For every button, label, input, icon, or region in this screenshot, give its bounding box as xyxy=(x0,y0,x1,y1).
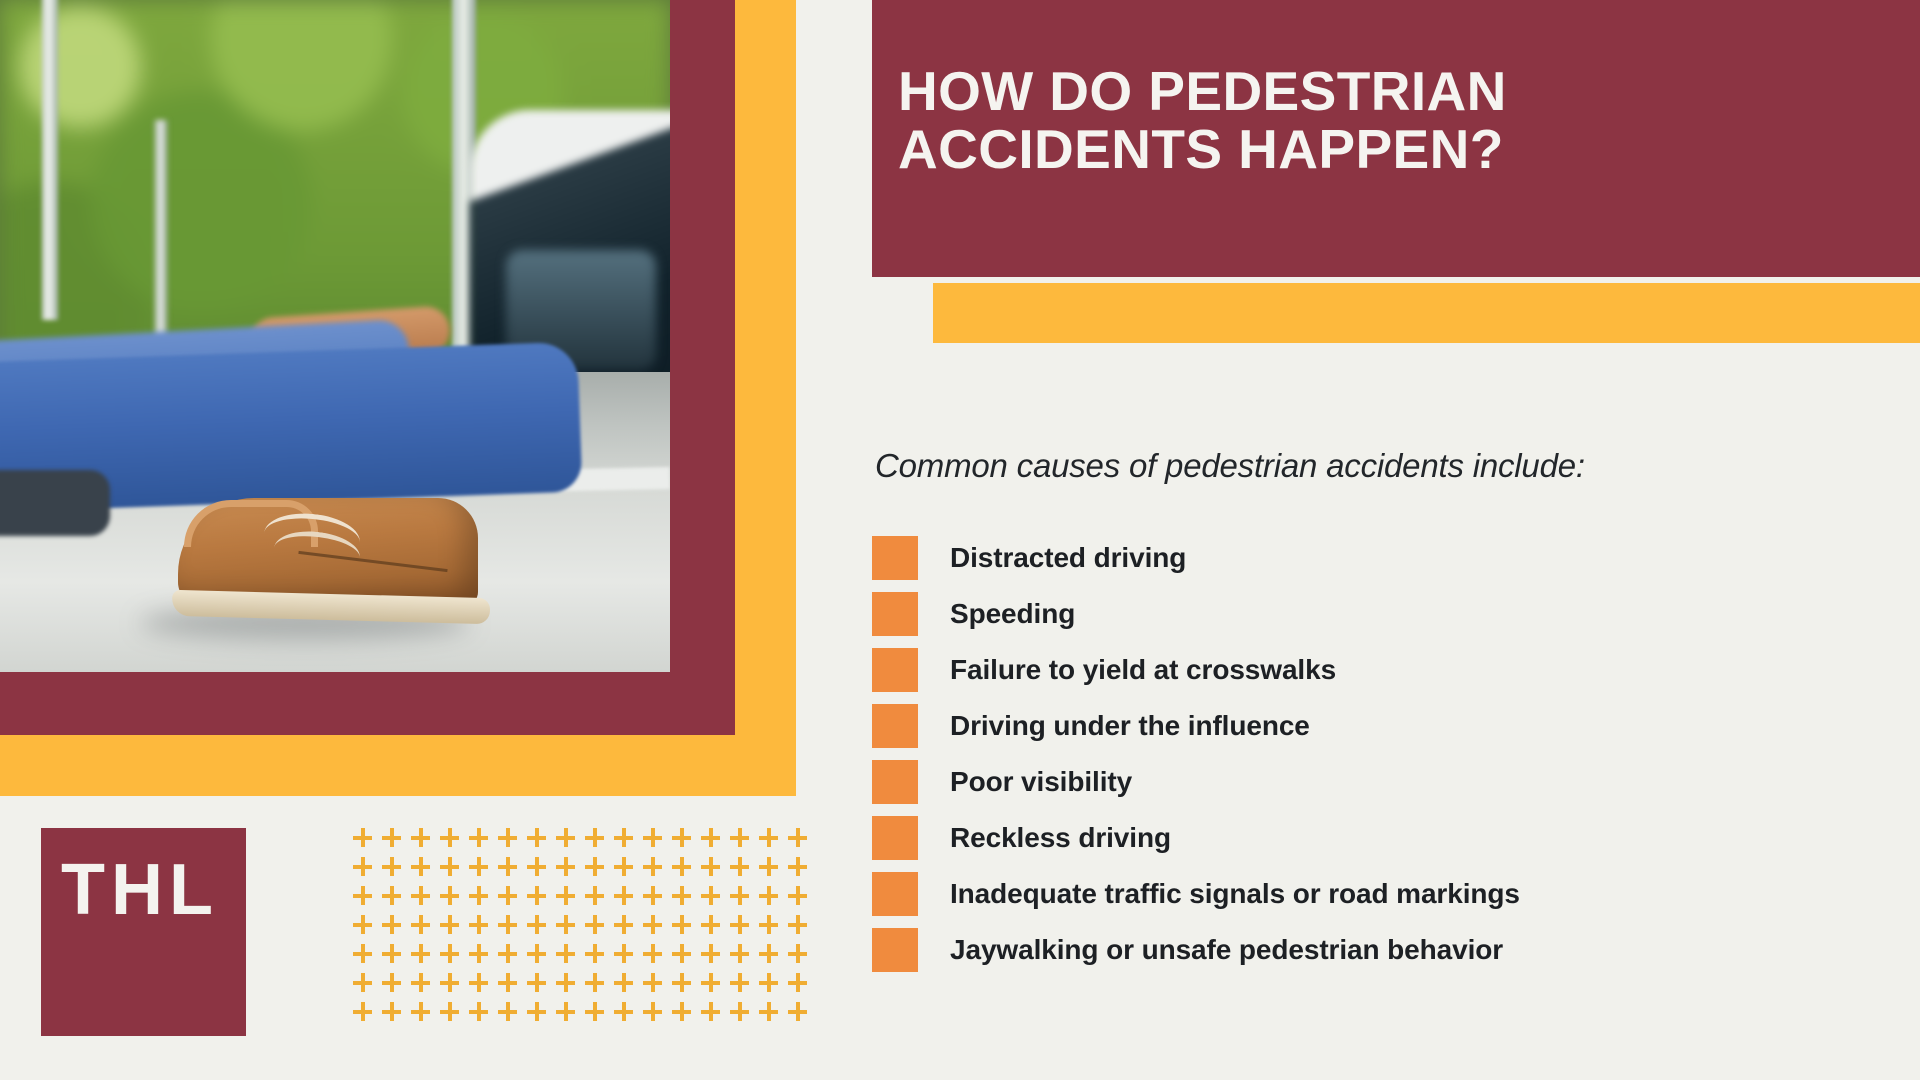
plus-icon xyxy=(440,886,459,905)
plus-icon xyxy=(672,915,691,934)
plus-icon xyxy=(556,973,575,992)
page-title-line-1: HOW DO PEDESTRIAN xyxy=(898,62,1900,120)
cause-list-item: Inadequate traffic signals or road marki… xyxy=(872,866,1892,922)
header-accent-bar xyxy=(933,283,1920,343)
cause-list-item: Speeding xyxy=(872,586,1892,642)
plus-icon xyxy=(382,915,401,934)
plus-icon xyxy=(382,886,401,905)
plus-icon xyxy=(556,886,575,905)
plus-icon xyxy=(701,828,720,847)
plus-icon xyxy=(585,828,604,847)
plus-icon xyxy=(643,915,662,934)
plus-icon xyxy=(788,973,807,992)
page-title-line-2: ACCIDENTS HAPPEN? xyxy=(898,120,1900,178)
plus-icon xyxy=(614,944,633,963)
bullet-square-icon xyxy=(872,648,918,692)
plus-icon xyxy=(759,1002,778,1021)
bullet-square-icon xyxy=(872,760,918,804)
cause-list-item: Poor visibility xyxy=(872,754,1892,810)
plus-icon xyxy=(759,915,778,934)
photo-pole-left xyxy=(42,0,58,320)
plus-icon xyxy=(585,886,604,905)
bullet-square-icon xyxy=(872,704,918,748)
plus-icon xyxy=(382,857,401,876)
causes-list: Distracted drivingSpeedingFailure to yie… xyxy=(872,530,1892,978)
plus-icon xyxy=(556,944,575,963)
plus-icon xyxy=(730,944,749,963)
plus-icon xyxy=(730,857,749,876)
page-title: HOW DO PEDESTRIAN ACCIDENTS HAPPEN? xyxy=(898,62,1900,179)
plus-icon xyxy=(527,944,546,963)
plus-icon xyxy=(585,973,604,992)
infographic-canvas: THL HOW DO PEDESTRIAN ACCIDENTS HAPPEN? … xyxy=(0,0,1920,1080)
bullet-square-icon xyxy=(872,592,918,636)
plus-icon xyxy=(382,944,401,963)
plus-icon xyxy=(353,1002,372,1021)
plus-icon xyxy=(469,857,488,876)
plus-icon xyxy=(440,915,459,934)
plus-icon xyxy=(498,1002,517,1021)
photo-sock xyxy=(0,470,110,536)
plus-icon xyxy=(411,973,430,992)
cause-list-item-label: Reckless driving xyxy=(950,822,1171,854)
plus-icon xyxy=(788,828,807,847)
plus-icon xyxy=(585,857,604,876)
plus-pattern-decoration xyxy=(353,828,813,1054)
plus-icon xyxy=(585,915,604,934)
plus-icon xyxy=(614,886,633,905)
plus-icon xyxy=(556,828,575,847)
cause-list-item-label: Jaywalking or unsafe pedestrian behavior xyxy=(950,934,1503,966)
plus-icon xyxy=(411,944,430,963)
plus-icon xyxy=(759,828,778,847)
plus-icon xyxy=(556,915,575,934)
plus-icon xyxy=(643,857,662,876)
plus-icon xyxy=(527,857,546,876)
plus-icon xyxy=(353,944,372,963)
plus-icon xyxy=(730,886,749,905)
plus-icon xyxy=(701,1002,720,1021)
plus-icon xyxy=(411,828,430,847)
plus-icon xyxy=(440,828,459,847)
plus-icon xyxy=(353,886,372,905)
cause-list-item-label: Poor visibility xyxy=(950,766,1132,798)
photo-pole-mid xyxy=(155,120,167,360)
plus-icon xyxy=(411,915,430,934)
plus-icon xyxy=(614,857,633,876)
plus-icon xyxy=(672,828,691,847)
plus-icon xyxy=(788,1002,807,1021)
plus-icon xyxy=(382,973,401,992)
plus-icon xyxy=(498,828,517,847)
bullet-square-icon xyxy=(872,872,918,916)
plus-icon xyxy=(440,1002,459,1021)
plus-icon xyxy=(672,973,691,992)
header-banner: HOW DO PEDESTRIAN ACCIDENTS HAPPEN? xyxy=(872,0,1920,277)
plus-icon xyxy=(585,944,604,963)
plus-icon xyxy=(701,857,720,876)
plus-icon xyxy=(759,857,778,876)
plus-icon xyxy=(469,1002,488,1021)
plus-icon xyxy=(469,886,488,905)
plus-icon xyxy=(353,828,372,847)
thl-logo: THL xyxy=(41,828,246,1036)
plus-icon xyxy=(556,857,575,876)
plus-icon xyxy=(498,857,517,876)
plus-icon xyxy=(353,915,372,934)
section-subtitle: Common causes of pedestrian accidents in… xyxy=(875,447,1585,485)
thl-logo-text: THL xyxy=(61,854,219,926)
plus-icon xyxy=(469,915,488,934)
plus-icon xyxy=(672,886,691,905)
cause-list-item-label: Distracted driving xyxy=(950,542,1186,574)
plus-icon xyxy=(411,857,430,876)
plus-icon xyxy=(556,1002,575,1021)
plus-icon xyxy=(672,944,691,963)
plus-icon xyxy=(614,915,633,934)
plus-icon xyxy=(759,944,778,963)
plus-icon xyxy=(614,973,633,992)
plus-icon xyxy=(527,915,546,934)
plus-icon xyxy=(614,828,633,847)
plus-icon xyxy=(643,828,662,847)
plus-icon xyxy=(701,886,720,905)
plus-icon xyxy=(382,828,401,847)
plus-icon xyxy=(527,886,546,905)
plus-icon xyxy=(527,973,546,992)
plus-icon xyxy=(730,915,749,934)
accident-photo xyxy=(0,0,670,672)
plus-icon xyxy=(643,944,662,963)
plus-icon xyxy=(788,944,807,963)
cause-list-item-label: Inadequate traffic signals or road marki… xyxy=(950,878,1520,910)
plus-icon xyxy=(788,857,807,876)
plus-icon xyxy=(585,1002,604,1021)
plus-icon xyxy=(353,973,372,992)
plus-icon xyxy=(701,944,720,963)
cause-list-item: Jaywalking or unsafe pedestrian behavior xyxy=(872,922,1892,978)
plus-icon xyxy=(440,857,459,876)
cause-list-item: Distracted driving xyxy=(872,530,1892,586)
plus-icon xyxy=(498,915,517,934)
plus-icon xyxy=(672,857,691,876)
plus-icon xyxy=(411,1002,430,1021)
plus-icon xyxy=(643,886,662,905)
plus-icon xyxy=(730,973,749,992)
plus-icon xyxy=(382,1002,401,1021)
cause-list-item: Failure to yield at crosswalks xyxy=(872,642,1892,698)
plus-icon xyxy=(498,944,517,963)
plus-icon xyxy=(469,828,488,847)
plus-icon xyxy=(788,915,807,934)
cause-list-item: Reckless driving xyxy=(872,810,1892,866)
plus-icon xyxy=(469,944,488,963)
plus-icon xyxy=(701,973,720,992)
plus-icon xyxy=(759,886,778,905)
plus-icon xyxy=(498,886,517,905)
plus-icon xyxy=(469,973,488,992)
cause-list-item-label: Driving under the influence xyxy=(950,710,1310,742)
plus-icon xyxy=(353,857,372,876)
cause-list-item-label: Speeding xyxy=(950,598,1075,630)
plus-icon xyxy=(527,828,546,847)
plus-icon xyxy=(440,973,459,992)
plus-icon xyxy=(643,973,662,992)
photo-shoe xyxy=(178,498,488,628)
plus-icon xyxy=(498,973,517,992)
plus-icon xyxy=(701,915,720,934)
plus-icon xyxy=(614,1002,633,1021)
plus-icon xyxy=(788,886,807,905)
plus-icon xyxy=(730,828,749,847)
cause-list-item-label: Failure to yield at crosswalks xyxy=(950,654,1336,686)
plus-icon xyxy=(440,944,459,963)
plus-icon xyxy=(759,973,778,992)
bullet-square-icon xyxy=(872,816,918,860)
plus-icon xyxy=(672,1002,691,1021)
bullet-square-icon xyxy=(872,928,918,972)
cause-list-item: Driving under the influence xyxy=(872,698,1892,754)
plus-icon xyxy=(730,1002,749,1021)
plus-icon xyxy=(643,1002,662,1021)
bullet-square-icon xyxy=(872,536,918,580)
plus-icon xyxy=(411,886,430,905)
plus-icon xyxy=(527,1002,546,1021)
